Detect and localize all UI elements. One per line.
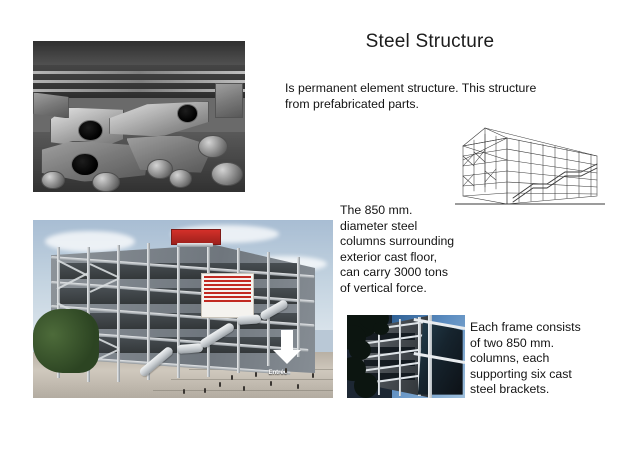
structure-line-drawing-svg: [455, 116, 605, 208]
person: [183, 389, 185, 394]
steel-column: [297, 257, 300, 357]
foundry-rail: [33, 89, 245, 92]
person: [285, 368, 287, 373]
steel-pipe: [92, 172, 119, 192]
steel-pipe: [41, 171, 64, 190]
exhibition-banner: [201, 273, 254, 318]
foliage: [354, 373, 378, 398]
foreground-trees: [33, 309, 99, 373]
page-title: Steel Structure: [300, 31, 560, 53]
steel-column: [147, 243, 150, 380]
person: [219, 382, 221, 387]
escalator-tube: [177, 343, 204, 354]
foundry-equipment: [215, 83, 242, 118]
steel-pipe: [169, 169, 192, 188]
person: [243, 386, 245, 391]
pompidou-photo: Entrée: [33, 220, 333, 398]
person: [270, 381, 272, 386]
plaza-paving-line: [171, 379, 333, 380]
person: [204, 388, 206, 393]
foundry-photo: [33, 41, 245, 192]
person: [297, 384, 299, 389]
frames-paragraph: Each frame consists of two 850 mm. colum…: [470, 320, 638, 398]
person: [255, 372, 257, 377]
steel-column: [177, 243, 180, 378]
escalator-tube: [237, 314, 262, 325]
columns-paragraph: The 850 mm. diameter steel columns surro…: [340, 203, 500, 296]
facade-photo: [347, 315, 465, 398]
foundry-rail: [33, 71, 245, 74]
steel-pipe: [211, 162, 243, 187]
cast-bracket-hole: [71, 153, 98, 176]
person: [231, 375, 233, 380]
intro-paragraph: Is permanent element structure. This str…: [285, 81, 605, 112]
cast-bracket-hole: [78, 120, 103, 142]
rooftop-support: [177, 243, 213, 247]
steel-pipe: [198, 135, 228, 158]
foundry-rail: [33, 80, 245, 83]
steel-column: [117, 245, 120, 382]
structure-line-drawing: [455, 116, 605, 208]
person: [312, 373, 314, 378]
slide-canvas: Steel Structure Is permanent element str…: [0, 0, 640, 452]
facade-column: [399, 319, 401, 395]
